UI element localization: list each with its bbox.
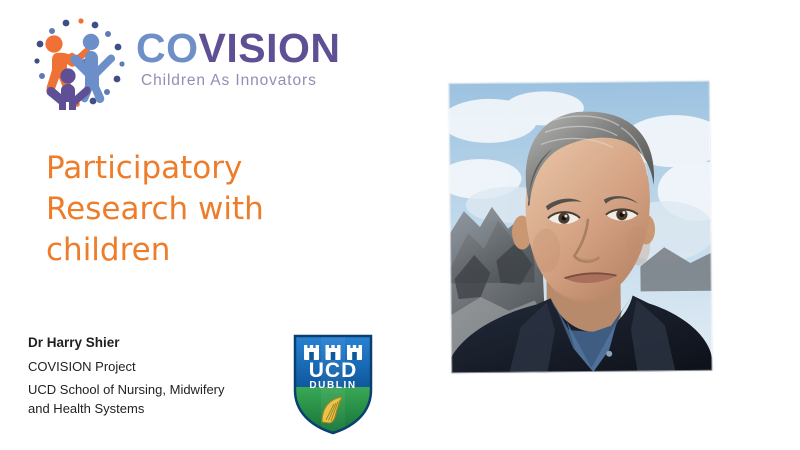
ucd-dublin-crest-icon: UCD DUBLIN	[291, 332, 375, 436]
covision-wordmark: COVISION Children As Innovators	[136, 26, 376, 90]
presenter-name: Dr Harry Shier	[28, 333, 288, 353]
speaker-portrait-photo	[449, 81, 713, 373]
slide-title: Participatory Research with children	[46, 148, 336, 271]
presenter-affiliation-line1: UCD School of Nursing, Midwifery	[28, 380, 288, 399]
crest-initials-text: UCD	[309, 359, 358, 382]
presentation-slide: COVISION Children As Innovators Particip…	[0, 0, 800, 450]
wordmark-co: CO	[136, 25, 199, 71]
presenter-project: COVISION Project	[28, 357, 288, 376]
covision-wordmark-text: COVISION	[136, 26, 376, 70]
portrait-image	[449, 81, 713, 373]
covision-logo-mark-icon	[28, 16, 134, 112]
presenter-affiliation-line2: and Health Systems	[28, 399, 288, 418]
castle-towers	[304, 345, 362, 360]
crest-city-text: DUBLIN	[309, 380, 356, 391]
covision-tagline: Children As Innovators	[136, 72, 376, 90]
covision-logo: COVISION Children As Innovators	[28, 16, 378, 112]
wordmark-vision: VISION	[199, 25, 341, 71]
presenter-block: Dr Harry Shier COVISION Project UCD Scho…	[28, 333, 288, 418]
